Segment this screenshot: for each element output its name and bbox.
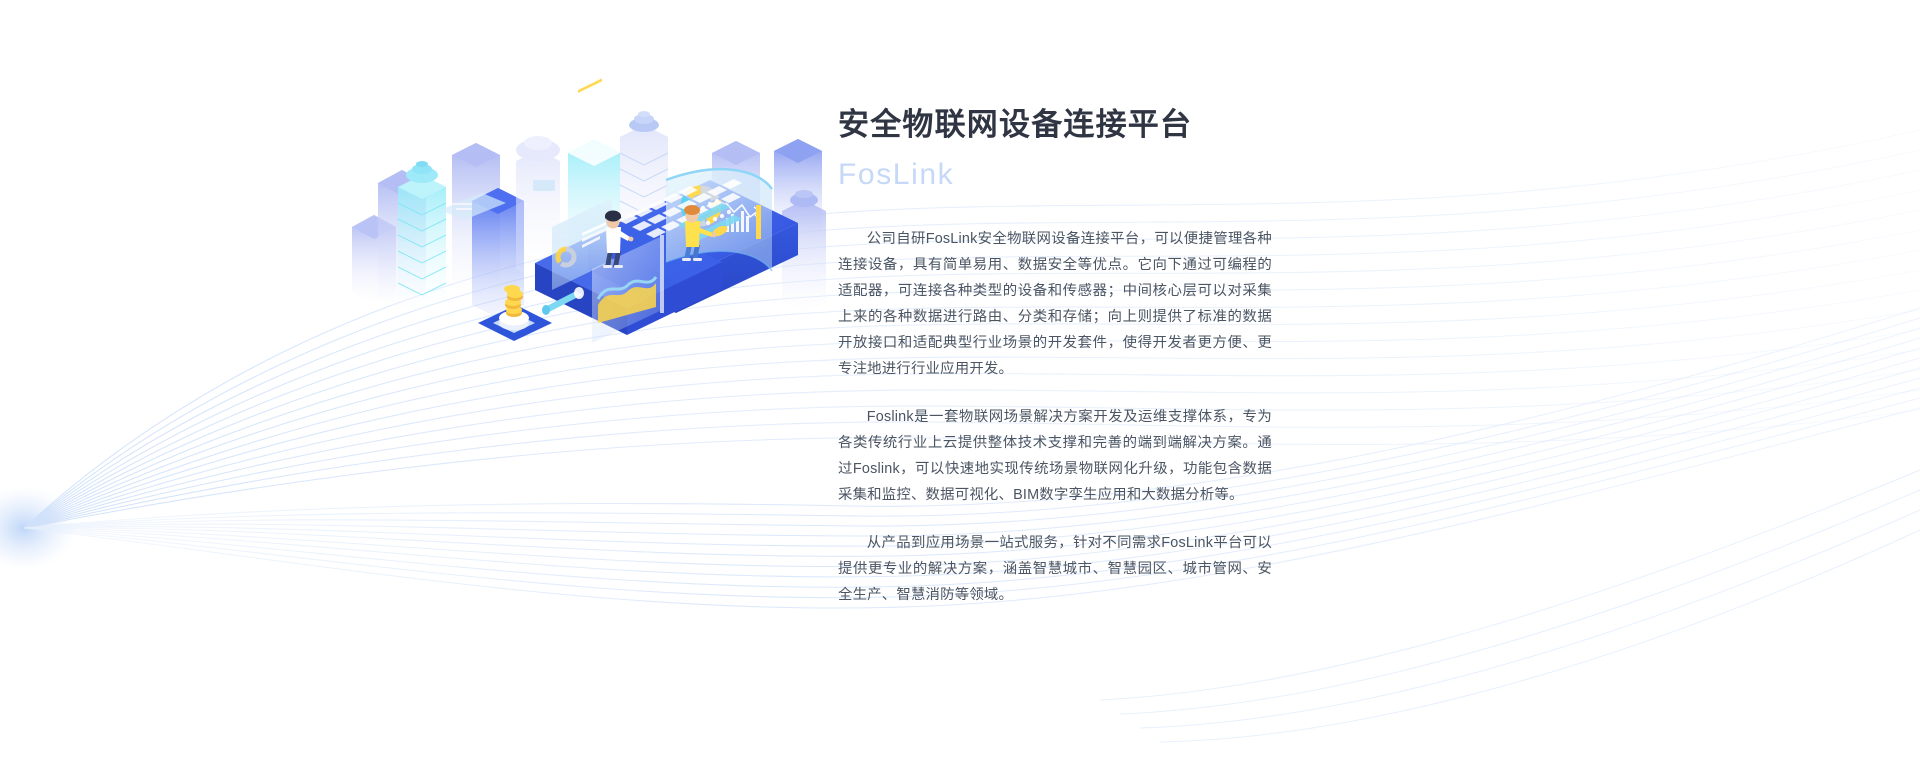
body-copy: 公司自研FosLink安全物联网设备连接平台，可以便捷管理各种连接设备，具有简单… [838,226,1272,608]
page-subtitle: FosLink [838,155,1458,194]
hero-text-column: 安全物联网设备连接平台 FosLink 公司自研FosLink安全物联网设备连接… [838,106,1458,608]
hero-illustration [330,55,830,355]
paragraph: 从产品到应用场景一站式服务，针对不同需求FosLink平台可以提供更专业的解决方… [838,530,1272,608]
page-title: 安全物联网设备连接平台 [838,106,1458,145]
paragraph: 公司自研FosLink安全物联网设备连接平台，可以便捷管理各种连接设备，具有简单… [838,226,1272,382]
tiered-tower-left [398,161,446,313]
paragraph: Foslink是一套物联网场景解决方案开发及运维支撑体系，专为各类传统行业上云提… [838,404,1272,508]
hero-section: 安全物联网设备连接平台 FosLink 公司自研FosLink安全物联网设备连接… [0,0,1920,760]
